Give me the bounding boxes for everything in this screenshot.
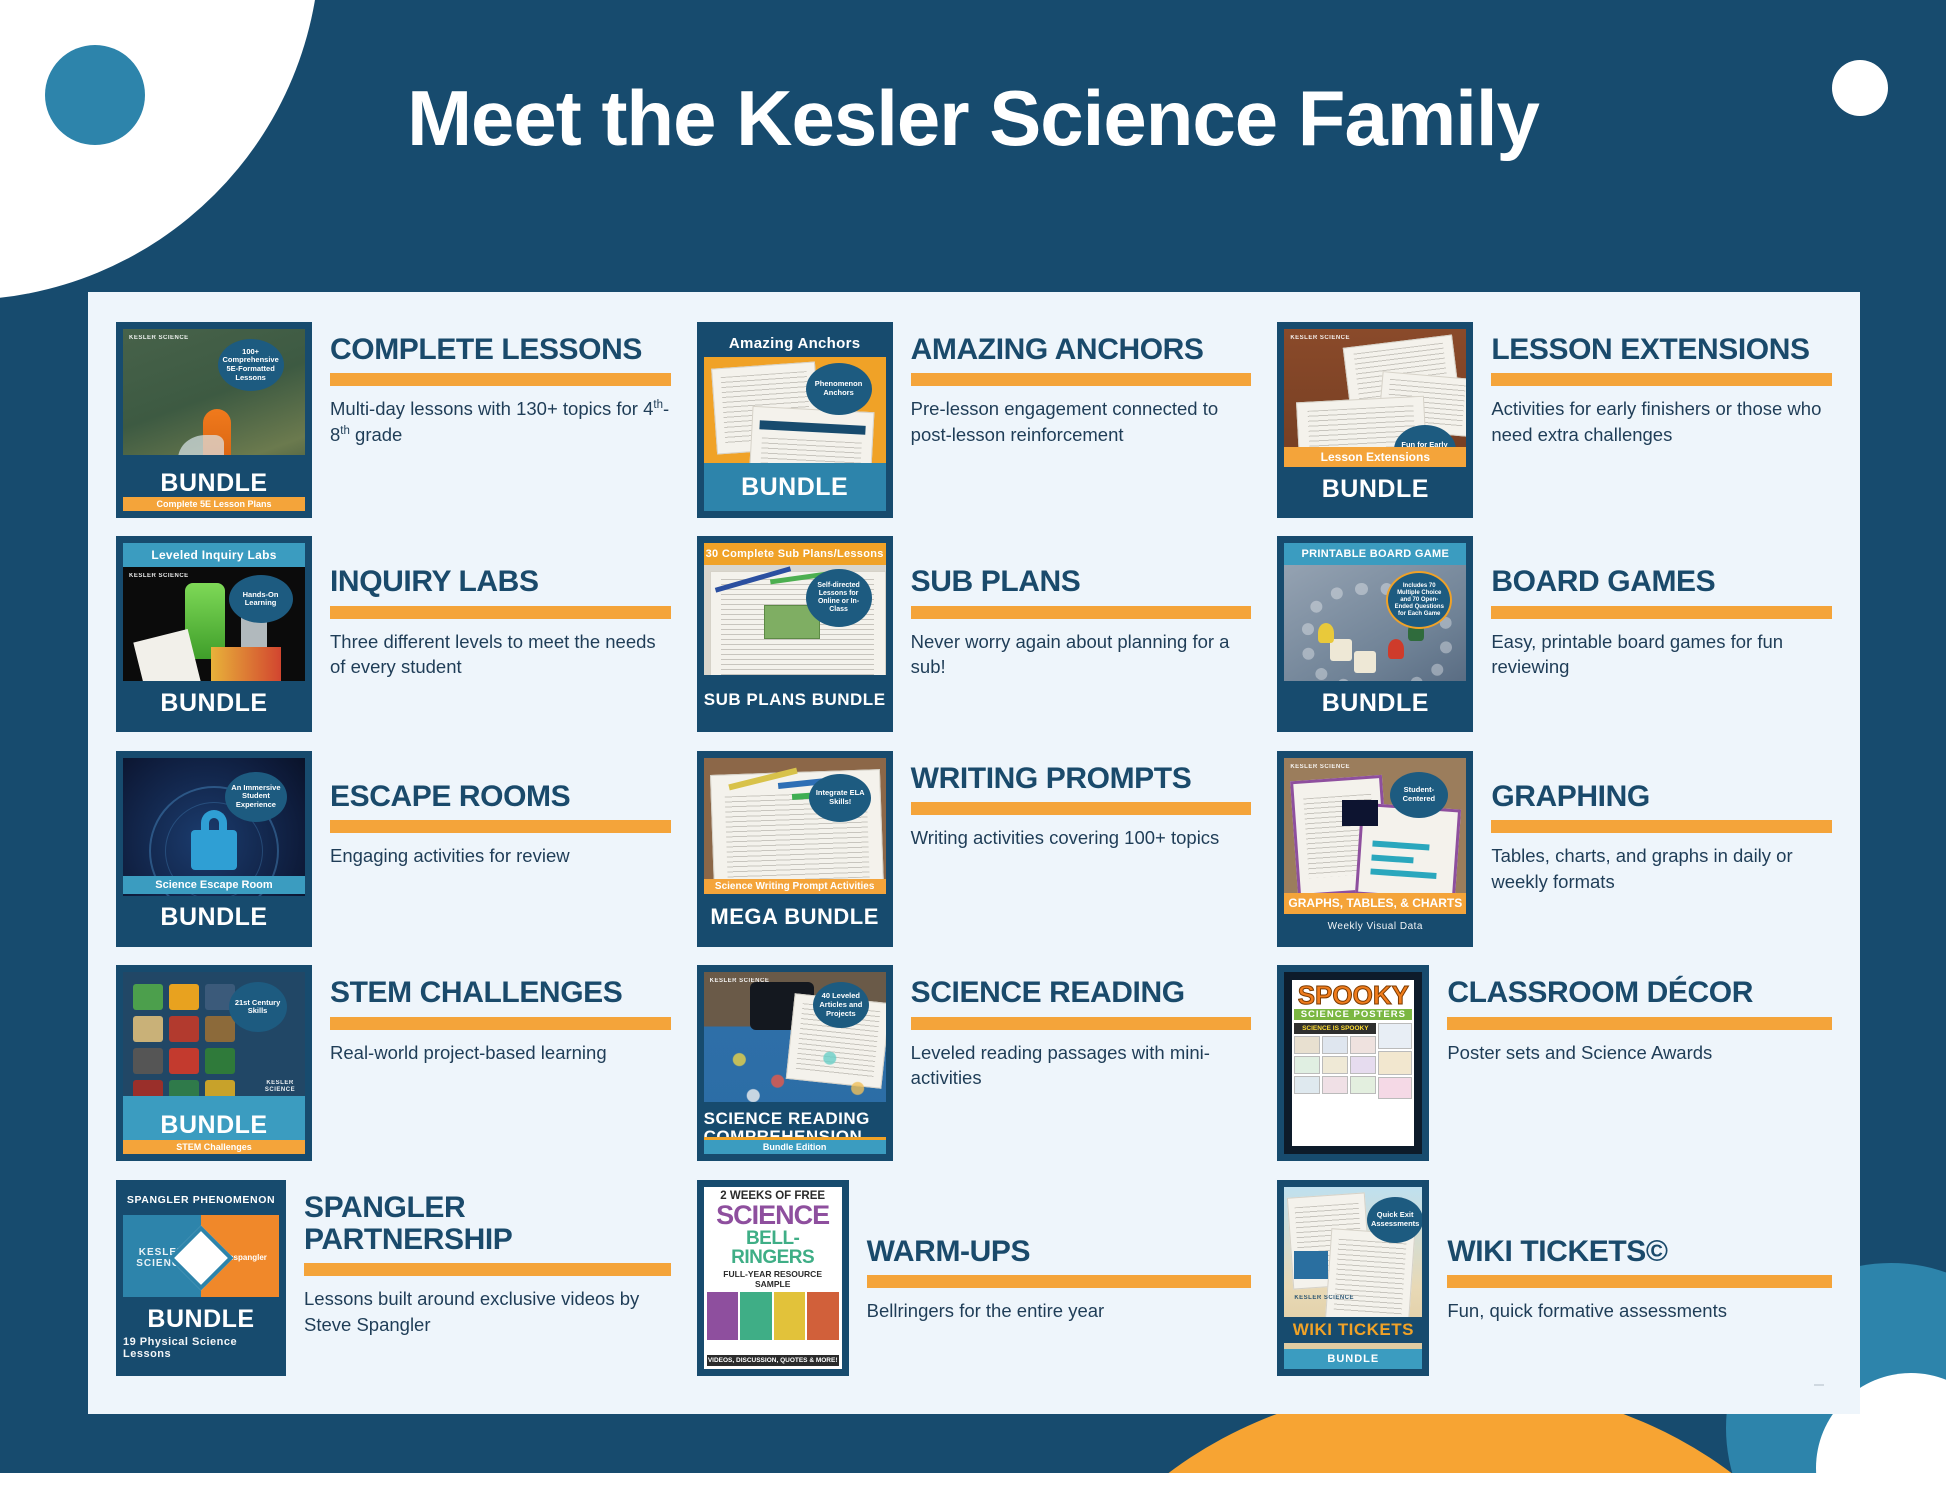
product-title: SCIENCE READING xyxy=(911,977,1252,1009)
product-description: Three different levels to meet the needs… xyxy=(330,629,671,680)
thumbnail-bottom-sub: VIDEOS, DISCUSSION, QUOTES & MORE! xyxy=(707,1355,839,1366)
thumbnail-bottom-band: MEGA BUNDLE xyxy=(704,894,886,940)
thumbnail-art: KESLER SCIENCE An Immersive Student Expe… xyxy=(123,758,305,940)
product-text-block: WRITING PROMPTS Writing activities cover… xyxy=(911,751,1252,851)
product-title: SPANGLER PARTNERSHIP xyxy=(304,1192,671,1257)
product-grid-card: KESLER SCIENCE 100+ Comprehensive 5E-For… xyxy=(88,292,1860,1414)
product-title: CLASSROOM DÉCOR xyxy=(1447,977,1832,1009)
thumbnail-art: KESLER SCIENCE Student-Centered GRAPHS, … xyxy=(1284,758,1466,940)
product-text-block: BOARD GAMES Easy, printable board games … xyxy=(1491,536,1832,679)
product-title: LESSON EXTENSIONS xyxy=(1491,334,1832,366)
product-thumbnail-amazing-anchors[interactable]: Amazing Anchors Phenomenon Anchors BUNDL… xyxy=(697,322,893,518)
product-thumbnail-classroom-decor[interactable]: SPOOKY SCIENCE POSTERS SCIENCE IS SPOOKY xyxy=(1277,965,1429,1161)
product-description: Activities for early finishers or those … xyxy=(1491,396,1832,447)
product-text-block: STEM CHALLENGES Real-world project-based… xyxy=(330,965,671,1065)
product-thumbnail-lesson-extensions[interactable]: KESLER SCIENCE Fun for Early Finishers! … xyxy=(1277,322,1473,518)
product-thumbnail-inquiry-labs[interactable]: Leveled Inquiry Labs KESLER SCIENCE Hand… xyxy=(116,536,312,732)
product-description: Engaging activities for review xyxy=(330,843,671,869)
product-thumbnail-board-games[interactable]: PRINTABLE BOARD GAME Includes 70 Multipl… xyxy=(1277,536,1473,732)
product-title: WARM-UPS xyxy=(867,1236,1252,1268)
title-underline-rule xyxy=(1491,820,1832,833)
thumbnail-bottom-sub: Science Escape Room xyxy=(123,876,305,894)
product-item-board-games[interactable]: PRINTABLE BOARD GAME Includes 70 Multipl… xyxy=(1277,536,1832,750)
thumbnail-bottom-sub: BUNDLE xyxy=(1284,1349,1422,1369)
title-underline-rule xyxy=(911,802,1252,815)
product-text-block: CLASSROOM DÉCOR Poster sets and Science … xyxy=(1447,965,1832,1065)
product-thumbnail-stem-challenges[interactable]: KESLER SCIENCE 21st Century Skills BUNDL… xyxy=(116,965,312,1161)
page-title: Meet the Kesler Science Family xyxy=(0,78,1946,160)
product-title: WIKI TICKETS© xyxy=(1447,1236,1832,1268)
title-underline-rule xyxy=(330,606,671,619)
product-title: WRITING PROMPTS xyxy=(911,763,1252,795)
product-thumbnail-spangler[interactable]: SPANGLER PHENOMENON KESLER SCIENCE steve… xyxy=(116,1180,286,1376)
thumbnail-top-band: SPANGLER PHENOMENON xyxy=(123,1187,279,1213)
product-text-block: ESCAPE ROOMS Engaging activities for rev… xyxy=(330,751,671,869)
product-description: Pre-lesson engagement connected to post-… xyxy=(911,396,1252,447)
thumbnail-badge: 100+ Comprehensive 5E-Formatted Lessons xyxy=(218,339,284,391)
thumbnail-badge: Integrate ELA Skills! xyxy=(809,774,871,822)
thumbnail-badge: Quick Exit Assessments xyxy=(1367,1197,1422,1243)
footer-marker xyxy=(1814,1384,1824,1386)
warmup-line1: SCIENCE xyxy=(707,1202,839,1229)
thumbnail-badge: An Immersive Student Experience xyxy=(225,772,287,822)
bundle-label: SUB PLANS BUNDLE xyxy=(704,691,886,709)
product-title: SUB PLANS xyxy=(911,566,1252,598)
thumbnail-bottom-sub: Weekly Visual Data xyxy=(1328,921,1423,932)
thumbnail-badge: Student-Centered xyxy=(1390,772,1448,818)
product-title: AMAZING ANCHORS xyxy=(911,334,1252,366)
title-underline-rule xyxy=(1491,373,1832,386)
thumbnail-art: KESLER SCIENCE 40 Leveled Articles and P… xyxy=(704,972,886,1154)
product-text-block: SPANGLER PARTNERSHIP Lessons built aroun… xyxy=(304,1180,671,1338)
product-description: Leveled reading passages with mini-activ… xyxy=(911,1040,1252,1091)
product-title: ESCAPE ROOMS xyxy=(330,781,671,813)
bundle-label: BUNDLE xyxy=(160,689,267,718)
product-thumbnail-wiki-tickets[interactable]: Quick Exit Assessments KESLER SCIENCE WI… xyxy=(1277,1180,1429,1376)
product-thumbnail-graphing[interactable]: KESLER SCIENCE Student-Centered GRAPHS, … xyxy=(1277,751,1473,947)
product-item-classroom-decor[interactable]: SPOOKY SCIENCE POSTERS SCIENCE IS SPOOKY xyxy=(1277,965,1832,1179)
bundle-label: MEGA BUNDLE xyxy=(710,905,878,928)
product-item-amazing-anchors[interactable]: Amazing Anchors Phenomenon Anchors BUNDL… xyxy=(697,322,1252,536)
thumbnail-badge: Phenomenon Anchors xyxy=(806,363,872,415)
product-title: COMPLETE LESSONS xyxy=(330,334,671,366)
product-text-block: GRAPHING Tables, charts, and graphs in d… xyxy=(1491,751,1832,894)
thumbnail-bottom-band: Weekly Visual Data xyxy=(1284,914,1466,940)
warmup-line3: FULL-YEAR RESOURCE SAMPLE xyxy=(707,1269,839,1289)
product-item-spangler-partnership[interactable]: SPANGLER PHENOMENON KESLER SCIENCE steve… xyxy=(116,1180,671,1394)
product-description: Bellringers for the entire year xyxy=(867,1298,1252,1324)
product-title: STEM CHALLENGES xyxy=(330,977,671,1009)
product-description: Multi-day lessons with 130+ topics for 4… xyxy=(330,396,671,447)
thumbnail-top-band: 30 Complete Sub Plans/Lessons xyxy=(704,543,886,565)
product-thumbnail-writing-prompts[interactable]: Integrate ELA Skills! Science Writing Pr… xyxy=(697,751,893,947)
product-description: Writing activities covering 100+ topics xyxy=(911,825,1252,851)
thumbnail-top-band: PRINTABLE BOARD GAME xyxy=(1284,543,1466,565)
product-thumbnail-escape-rooms[interactable]: KESLER SCIENCE An Immersive Student Expe… xyxy=(116,751,312,947)
thumbnail-top-band: Amazing Anchors xyxy=(704,329,886,357)
product-description: Real-world project-based learning xyxy=(330,1040,671,1066)
product-item-escape-rooms[interactable]: KESLER SCIENCE An Immersive Student Expe… xyxy=(116,751,671,965)
thumbnail-art: Leveled Inquiry Labs KESLER SCIENCE Hand… xyxy=(123,543,305,725)
title-underline-rule xyxy=(911,373,1252,386)
thumbnail-bottom-label: GRAPHS, TABLES, & CHARTS xyxy=(1284,893,1466,914)
product-item-stem-challenges[interactable]: KESLER SCIENCE 21st Century Skills BUNDL… xyxy=(116,965,671,1179)
product-text-block: SCIENCE READING Leveled reading passages… xyxy=(911,965,1252,1090)
thumbnail-art: 30 Complete Sub Plans/Lessons Self-direc… xyxy=(704,543,886,725)
product-thumbnail-warm-ups[interactable]: 2 WEEKS OF FREE SCIENCE BELL-RINGERS FUL… xyxy=(697,1180,849,1376)
thumbnail-bottom-band: BUNDLE 19 Physical Science Lessons xyxy=(123,1297,279,1369)
title-underline-rule xyxy=(1447,1275,1832,1288)
thumbnail-art: KESLER SCIENCE Fun for Early Finishers! … xyxy=(1284,329,1466,511)
thumbnail-bottom-sub: Complete 5E Lesson Plans xyxy=(123,497,305,511)
product-text-block: INQUIRY LABS Three different levels to m… xyxy=(330,536,671,679)
product-item-writing-prompts[interactable]: Integrate ELA Skills! Science Writing Pr… xyxy=(697,751,1252,965)
kesler-logo-icon: KESLER SCIENCE xyxy=(129,573,189,580)
warmup-line2: BELL-RINGERS xyxy=(707,1229,839,1267)
title-underline-rule xyxy=(1491,606,1832,619)
product-item-complete-lessons[interactable]: KESLER SCIENCE 100+ Comprehensive 5E-For… xyxy=(116,322,671,536)
title-underline-rule xyxy=(1447,1017,1832,1030)
thumbnail-art: KESLER SCIENCE 21st Century Skills BUNDL… xyxy=(123,972,305,1154)
product-thumbnail-complete-lessons[interactable]: KESLER SCIENCE 100+ Comprehensive 5E-For… xyxy=(116,322,312,518)
product-item-science-reading[interactable]: KESLER SCIENCE 40 Leveled Articles and P… xyxy=(697,965,1252,1179)
product-description: Fun, quick formative assessments xyxy=(1447,1298,1832,1324)
product-description: Tables, charts, and graphs in daily or w… xyxy=(1491,843,1832,894)
thumbnail-top-band: Leveled Inquiry Labs xyxy=(123,543,305,567)
thumbnail-bottom-sub: 19 Physical Science Lessons xyxy=(123,1336,279,1360)
thumbnail-badge: Self-directed Lessons for Online or In-C… xyxy=(806,569,872,627)
bundle-label: BUNDLE xyxy=(160,1111,267,1140)
title-underline-rule xyxy=(304,1263,671,1276)
thumbnail-art: SPANGLER PHENOMENON KESLER SCIENCE steve… xyxy=(123,1187,279,1369)
product-title: INQUIRY LABS xyxy=(330,566,671,598)
product-text-block: LESSON EXTENSIONS Activities for early f… xyxy=(1491,322,1832,447)
bundle-label: BUNDLE xyxy=(147,1305,254,1334)
thumbnail-bottom-sub: STEM Challenges xyxy=(123,1140,305,1154)
thumbnail-bottom-label: WIKI TICKETS xyxy=(1284,1317,1422,1343)
thumbnail-art: Amazing Anchors Phenomenon Anchors BUNDL… xyxy=(704,329,886,511)
thumbnail-bottom-band: BUNDLE xyxy=(1284,681,1466,725)
thumbnail-art: KESLER SCIENCE 100+ Comprehensive 5E-For… xyxy=(123,329,305,511)
thumbnail-badge: 40 Leveled Articles and Projects xyxy=(813,982,869,1028)
poster-title: SPOOKY xyxy=(1294,982,1412,1008)
thumbnail-bottom-band: BUNDLE xyxy=(123,681,305,725)
thumbnail-badge: 21st Century Skills xyxy=(229,982,287,1032)
product-item-graphing[interactable]: KESLER SCIENCE Student-Centered GRAPHS, … xyxy=(1277,751,1832,965)
title-underline-rule xyxy=(330,820,671,833)
bundle-label: BUNDLE xyxy=(1322,475,1429,504)
product-text-block: COMPLETE LESSONS Multi-day lessons with … xyxy=(330,322,671,447)
product-item-warm-ups[interactable]: 2 WEEKS OF FREE SCIENCE BELL-RINGERS FUL… xyxy=(697,1180,1252,1394)
product-item-lesson-extensions[interactable]: KESLER SCIENCE Fun for Early Finishers! … xyxy=(1277,322,1832,536)
product-text-block: WARM-UPS Bellringers for the entire year xyxy=(867,1180,1252,1324)
product-thumbnail-sub-plans[interactable]: 30 Complete Sub Plans/Lessons Self-direc… xyxy=(697,536,893,732)
product-item-inquiry-labs[interactable]: Leveled Inquiry Labs KESLER SCIENCE Hand… xyxy=(116,536,671,750)
product-text-block: AMAZING ANCHORS Pre-lesson engagement co… xyxy=(911,322,1252,447)
thumbnail-bottom-sub: Bundle Edition xyxy=(704,1137,886,1154)
product-grid: KESLER SCIENCE 100+ Comprehensive 5E-For… xyxy=(116,322,1832,1394)
kesler-logo-icon: KESLER SCIENCE xyxy=(1294,1295,1354,1302)
product-thumbnail-science-reading[interactable]: KESLER SCIENCE 40 Leveled Articles and P… xyxy=(697,965,893,1161)
thumbnail-bottom-sub: Lesson Extensions xyxy=(1284,447,1466,467)
product-item-wiki-tickets[interactable]: Quick Exit Assessments KESLER SCIENCE WI… xyxy=(1277,1180,1832,1394)
bundle-label: BUNDLE xyxy=(160,903,267,932)
product-text-block: WIKI TICKETS© Fun, quick formative asses… xyxy=(1447,1180,1832,1324)
product-description: Never worry again about planning for a s… xyxy=(911,629,1252,680)
product-text-block: SUB PLANS Never worry again about planni… xyxy=(911,536,1252,679)
thumbnail-bottom-band: BUNDLE xyxy=(1284,467,1466,511)
title-underline-rule xyxy=(911,606,1252,619)
thumbnail-bottom-sub: Science Writing Prompt Activities xyxy=(704,879,886,894)
bundle-label: BUNDLE xyxy=(160,469,267,498)
kesler-logo-icon: KESLER SCIENCE xyxy=(129,335,189,342)
title-underline-rule xyxy=(867,1275,1252,1288)
title-underline-rule xyxy=(330,373,671,386)
thumbnail-art: 2 WEEKS OF FREE SCIENCE BELL-RINGERS FUL… xyxy=(704,1187,842,1369)
thumbnail-art: SPOOKY SCIENCE POSTERS SCIENCE IS SPOOKY xyxy=(1284,972,1422,1154)
kesler-logo-icon: KESLER SCIENCE xyxy=(1290,764,1350,771)
poster-tag: SCIENCE IS SPOOKY xyxy=(1294,1023,1376,1034)
kesler-logo-icon: KESLER SCIENCE xyxy=(1290,335,1350,342)
product-description: Poster sets and Science Awards xyxy=(1447,1040,1832,1066)
product-item-sub-plans[interactable]: 30 Complete Sub Plans/Lessons Self-direc… xyxy=(697,536,1252,750)
bundle-label: BUNDLE xyxy=(1322,689,1429,718)
thumbnail-art: Integrate ELA Skills! Science Writing Pr… xyxy=(704,758,886,940)
thumbnail-art: PRINTABLE BOARD GAME Includes 70 Multipl… xyxy=(1284,543,1466,725)
title-underline-rule xyxy=(330,1017,671,1030)
product-title: BOARD GAMES xyxy=(1491,566,1832,598)
product-description: Easy, printable board games for fun revi… xyxy=(1491,629,1832,680)
poster-subtitle: SCIENCE POSTERS xyxy=(1294,1009,1412,1020)
product-description: Lessons built around exclusive videos by… xyxy=(304,1286,671,1337)
thumbnail-badge: Hands-On Learning xyxy=(229,575,293,623)
title-underline-rule xyxy=(911,1017,1252,1030)
thumbnail-art: Quick Exit Assessments KESLER SCIENCE WI… xyxy=(1284,1187,1422,1369)
thumbnail-bottom-band: BUNDLE xyxy=(704,463,886,511)
bundle-label: BUNDLE xyxy=(741,473,848,502)
kesler-logo-icon: KESLER SCIENCE xyxy=(255,1080,305,1093)
decor-white-bottom-strip xyxy=(0,1473,1946,1503)
product-title: GRAPHING xyxy=(1491,781,1832,813)
thumbnail-bottom-band: BUNDLE xyxy=(123,896,305,940)
thumbnail-bottom-band: SUB PLANS BUNDLE xyxy=(704,675,886,725)
